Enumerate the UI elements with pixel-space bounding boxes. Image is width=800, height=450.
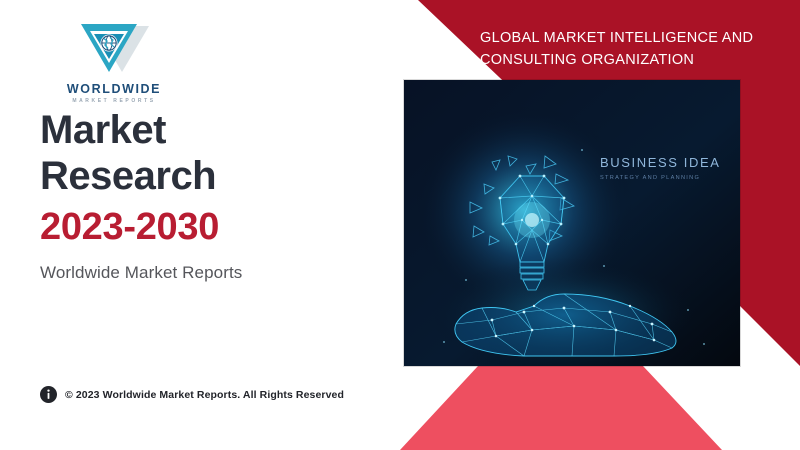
year-range: 2023-2030 — [40, 205, 370, 251]
copyright-text: © 2023 Worldwide Market Reports. All Rig… — [65, 389, 344, 401]
hero-caption: BUSINESS IDEA STRATEGY AND PLANNING — [600, 155, 730, 181]
hero-caption-subtitle: STRATEGY AND PLANNING — [600, 175, 730, 182]
headline-line-2: Research — [40, 154, 370, 200]
headline-subtitle: Worldwide Market Reports — [40, 263, 370, 283]
hero-caption-title: BUSINESS IDEA — [600, 155, 730, 171]
banner-line-1: GLOBAL MARKET INTELLIGENCE AND — [480, 28, 780, 50]
banner-tagline: GLOBAL MARKET INTELLIGENCE AND CONSULTIN… — [480, 28, 780, 72]
hero-image: BUSINESS IDEA STRATEGY AND PLANNING — [404, 80, 740, 366]
logo-subwordmark: MARKET REPORTS — [56, 99, 172, 105]
headline-line-1: Market — [40, 108, 370, 154]
logo-wordmark: WORLDWIDE — [56, 83, 172, 97]
globe-in-triangle-icon — [77, 20, 151, 82]
lightbulb-in-hand-illustration — [404, 80, 740, 366]
footer-copyright-row: © 2023 Worldwide Market Reports. All Rig… — [40, 386, 344, 403]
headline-block: Market Research 2023-2030 Worldwide Mark… — [40, 108, 370, 283]
info-circle-icon — [40, 386, 57, 403]
banner-line-2: CONSULTING ORGANIZATION — [480, 50, 780, 72]
poster-canvas: WORLDWIDE MARKET REPORTS Market Research… — [0, 0, 800, 450]
brand-logo[interactable]: WORLDWIDE MARKET REPORTS — [56, 20, 172, 104]
left-content-column: WORLDWIDE MARKET REPORTS Market Research… — [0, 0, 400, 450]
